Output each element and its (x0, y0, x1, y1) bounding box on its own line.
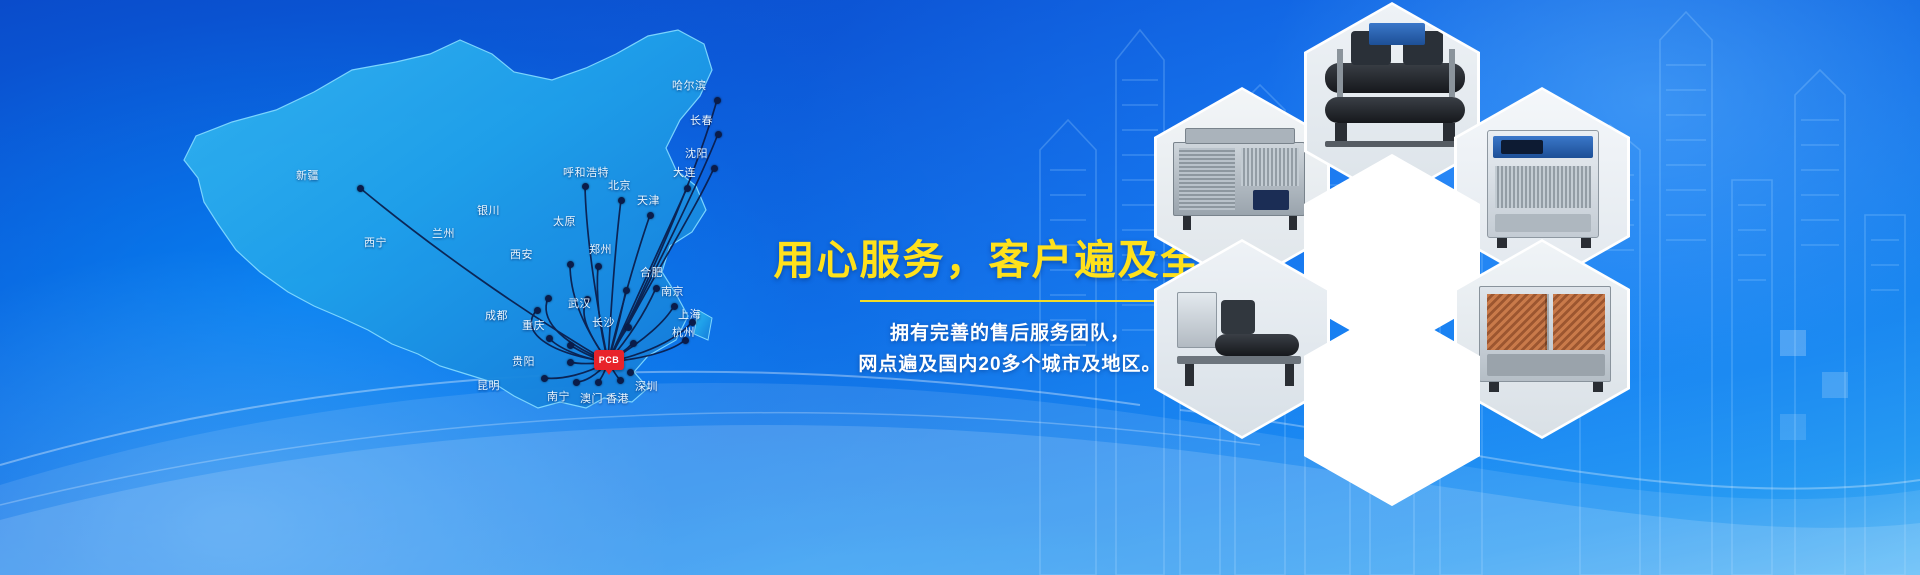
city-label-19: 长沙 (592, 318, 615, 329)
city-label-3: 沈阳 (685, 149, 708, 160)
city-dot-8 (567, 261, 574, 268)
product-hex-industrial-water-chiller[interactable] (1304, 306, 1480, 506)
city-dot-0 (357, 185, 364, 192)
city-dot-14 (653, 285, 660, 292)
city-dot-2 (715, 131, 722, 138)
city-label-14: 合肥 (640, 268, 663, 279)
city-dot-1 (714, 97, 721, 104)
city-dot-11 (534, 307, 541, 314)
city-dot-17 (682, 337, 689, 344)
city-label-5: 呼和浩特 (563, 168, 609, 179)
city-label-6: 北京 (608, 181, 631, 192)
city-label-21: 重庆 (522, 321, 545, 332)
city-label-9: 太原 (553, 217, 576, 228)
city-label-13: 郑州 (589, 245, 612, 256)
city-dot-7 (647, 212, 654, 219)
city-label-11: 西宁 (364, 238, 387, 249)
city-label-27: 深圳 (635, 382, 658, 393)
city-label-23: 昆明 (477, 381, 500, 392)
city-dot-16 (689, 319, 696, 326)
product-hex-air-cooled-box-chiller[interactable] (1454, 239, 1630, 439)
city-label-24: 南宁 (547, 392, 570, 403)
china-landmass (184, 30, 712, 408)
city-label-20: 成都 (485, 311, 508, 322)
city-label-10: 兰州 (432, 229, 455, 240)
city-label-22: 贵阳 (512, 357, 535, 368)
promo-banner: 新疆哈尔滨长春沈阳大连呼和浩特北京天津银川太原兰州西宁西安郑州合肥南京上海杭州武… (0, 0, 1920, 575)
divider-rule (860, 300, 1160, 302)
city-label-0: 新疆 (296, 171, 319, 182)
city-dot-23 (541, 375, 548, 382)
city-label-18: 武汉 (568, 299, 591, 310)
city-dot-3 (711, 165, 718, 172)
hub-label: PCB (594, 350, 624, 370)
city-label-26: 香港 (606, 394, 629, 405)
city-label-7: 天津 (637, 196, 660, 207)
city-label-12: 西安 (510, 250, 533, 261)
city-dot-15 (671, 303, 678, 310)
city-label-8: 银川 (477, 206, 500, 217)
city-dot-19 (630, 340, 637, 347)
hub-marker: PCB (594, 350, 624, 374)
city-dot-4 (684, 185, 691, 192)
city-dot-21 (567, 342, 574, 349)
city-dot-20 (546, 335, 553, 342)
city-dot-5 (582, 183, 589, 190)
product-hex-horizontal-tank-chiller[interactable] (1154, 239, 1330, 439)
city-dot-27 (627, 369, 634, 376)
city-dot-25 (595, 379, 602, 386)
city-dot-18 (625, 324, 632, 331)
city-dot-26 (617, 377, 624, 384)
product-hex-grid (1160, 0, 1780, 575)
city-dot-13 (623, 287, 630, 294)
city-dot-9 (595, 263, 602, 270)
china-distribution-map: 新疆哈尔滨长春沈阳大连呼和浩特北京天津银川太原兰州西宁西安郑州合肥南京上海杭州武… (100, 10, 720, 430)
city-label-1: 哈尔滨 (672, 81, 707, 92)
city-label-2: 长春 (690, 116, 713, 127)
city-dot-10 (545, 295, 552, 302)
city-dot-6 (618, 197, 625, 204)
city-label-25: 澳门 (580, 394, 603, 405)
city-label-4: 大连 (673, 168, 696, 179)
city-label-15: 南京 (661, 287, 684, 298)
city-dot-24 (573, 379, 580, 386)
city-dot-22 (567, 359, 574, 366)
